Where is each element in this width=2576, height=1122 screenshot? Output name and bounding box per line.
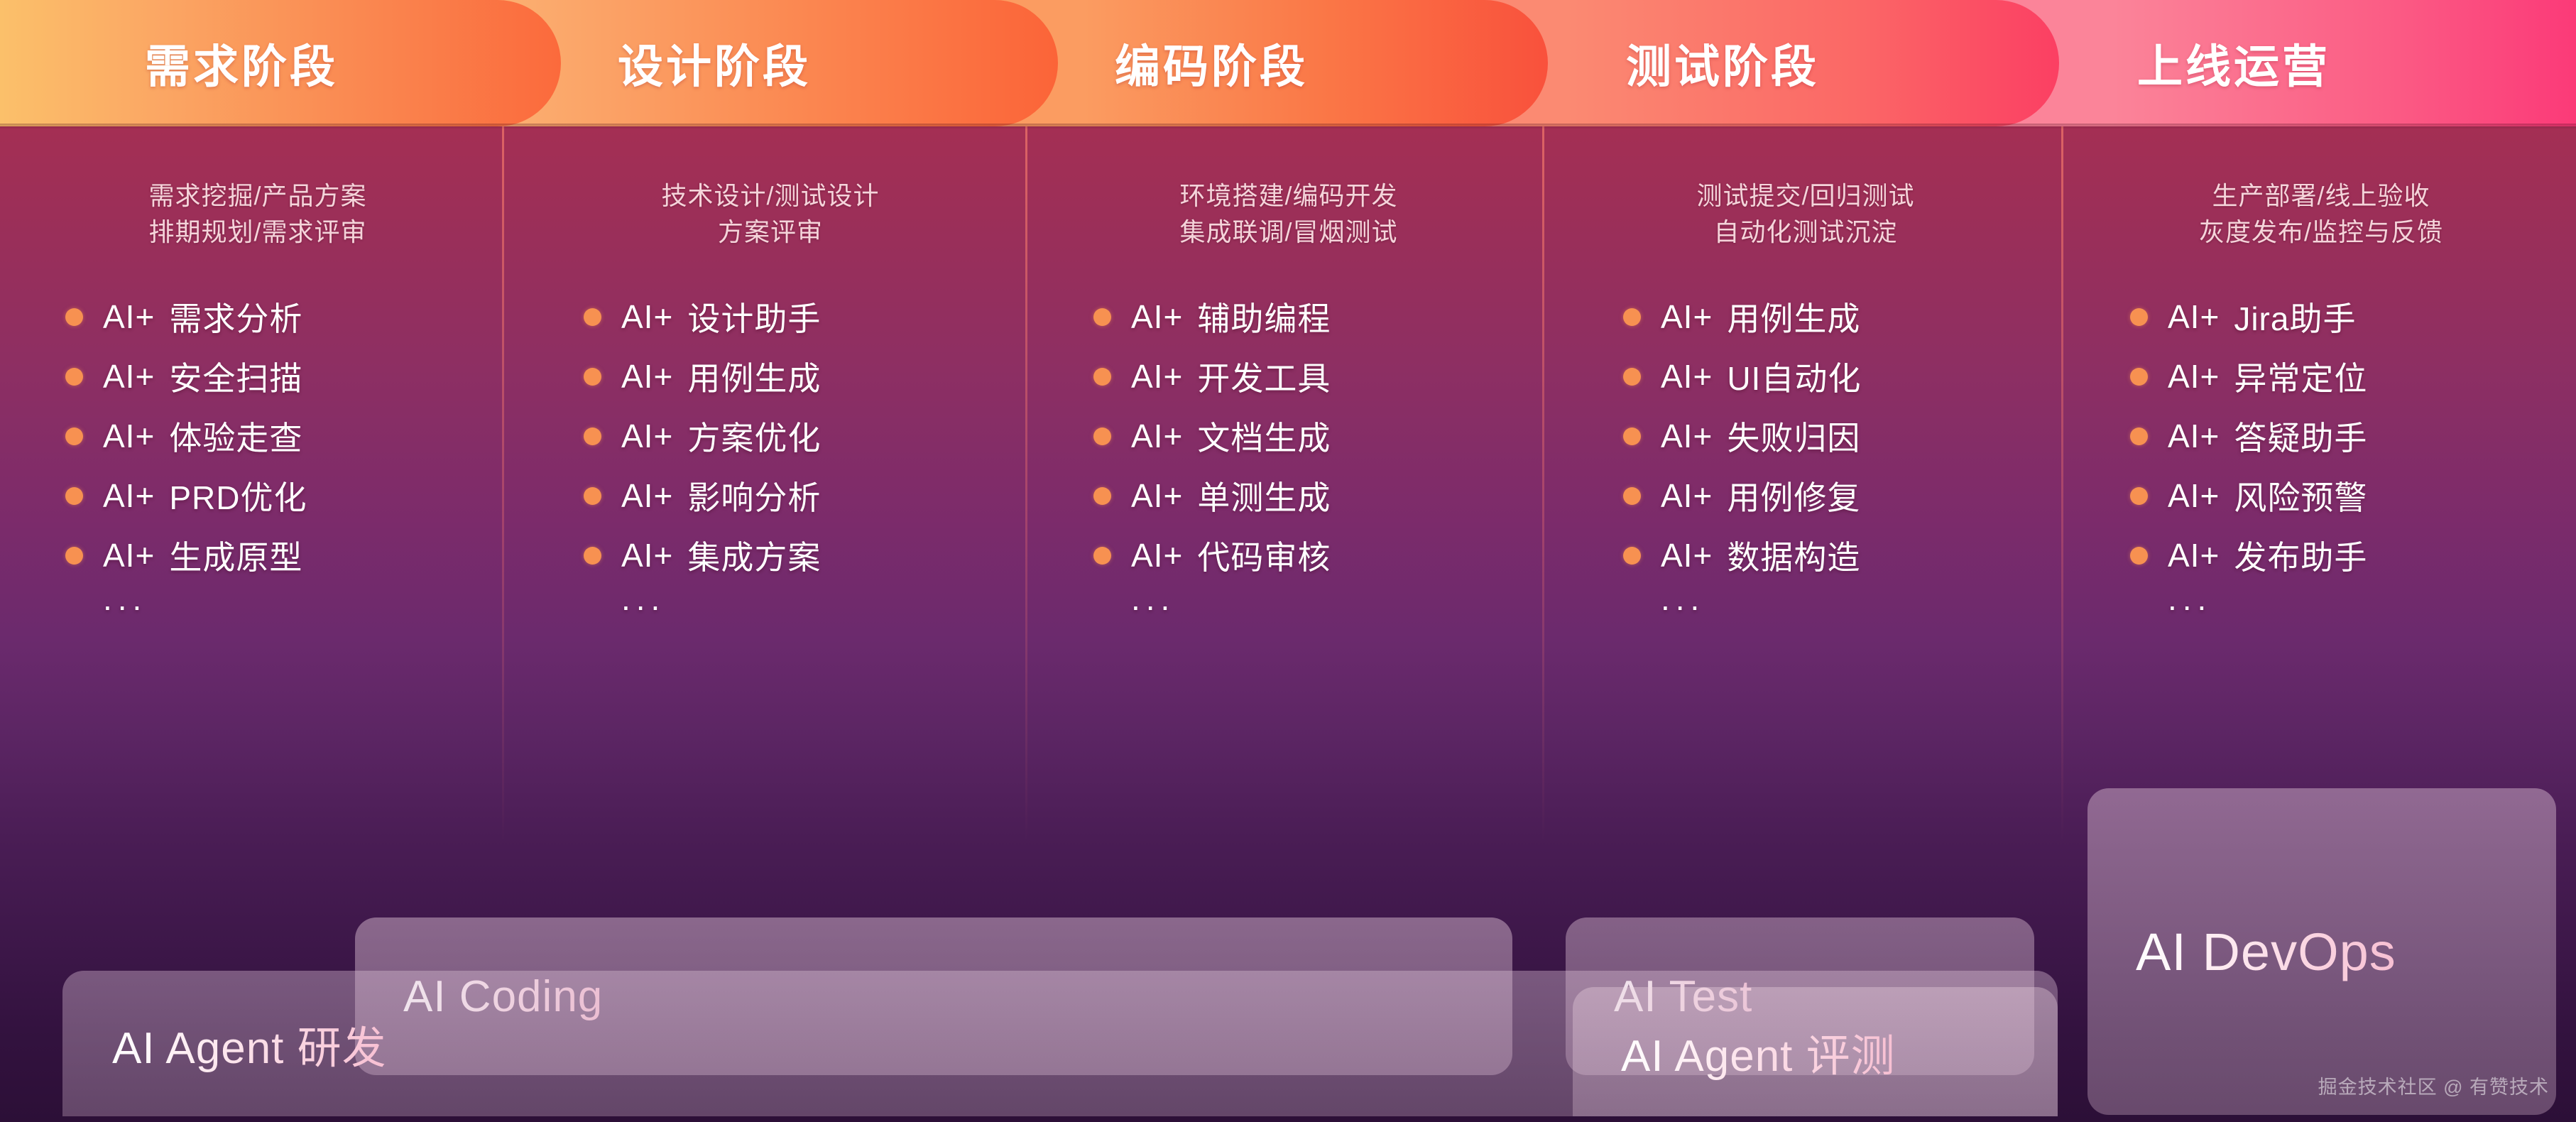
list-item[interactable]: AI+ 发布助手 bbox=[2130, 525, 2576, 585]
bullet-dot-icon bbox=[1623, 308, 1641, 326]
list-item[interactable]: AI+ 方案优化 bbox=[584, 406, 1028, 466]
item-prefix: AI+ bbox=[2168, 417, 2220, 455]
capability-list-5: AI+ Jira助手 AI+ 异常定位 AI+ 答疑助手 AI+ 风险预警 bbox=[2063, 287, 2576, 615]
bullet-dot-icon bbox=[1623, 487, 1641, 505]
column-subtitle-1-line1: 需求挖掘/产品方案 bbox=[0, 178, 515, 214]
list-item[interactable]: AI+ 影响分析 bbox=[584, 466, 1028, 525]
bullet-dot-icon bbox=[2130, 308, 2148, 326]
column-subtitle-3: 环境搭建/编码开发 集成联调/冒烟测试 bbox=[1031, 178, 1546, 250]
item-label: 体验走查 bbox=[169, 413, 302, 459]
item-prefix: AI+ bbox=[1661, 536, 1713, 574]
column-subtitle-4-line2: 自动化测试沉淀 bbox=[1548, 214, 2063, 250]
bullet-dot-icon bbox=[584, 368, 601, 386]
stage-pill-1[interactable]: 需求阶段 bbox=[0, 0, 561, 126]
bullet-dot-icon bbox=[584, 308, 601, 326]
platform-band-ai-agent-dev-label: AI Agent 研发 bbox=[112, 1012, 387, 1076]
item-prefix: AI+ bbox=[1131, 536, 1183, 574]
capability-list-1: AI+ 需求分析 AI+ 安全扫描 AI+ 体验走查 AI+ PRD优化 bbox=[0, 287, 515, 615]
item-prefix: AI+ bbox=[621, 417, 673, 455]
bullet-dot-icon bbox=[1093, 487, 1111, 505]
list-item[interactable]: AI+ 文档生成 bbox=[1093, 406, 1546, 466]
header-shadow bbox=[0, 124, 2576, 129]
more-ellipsis: ... bbox=[1623, 582, 2063, 615]
item-prefix: AI+ bbox=[2168, 298, 2220, 336]
item-label: 用例修复 bbox=[1727, 472, 1860, 519]
item-prefix: AI+ bbox=[103, 357, 155, 396]
item-prefix: AI+ bbox=[103, 536, 155, 574]
column-subtitle-1-line2: 排期规划/需求评审 bbox=[0, 214, 515, 250]
capability-list-3: AI+ 辅助编程 AI+ 开发工具 AI+ 文档生成 AI+ 单测生成 bbox=[1031, 287, 1546, 615]
bullet-dot-icon bbox=[584, 547, 601, 565]
item-label: 代码审核 bbox=[1197, 532, 1331, 579]
item-prefix: AI+ bbox=[1661, 476, 1713, 515]
more-ellipsis: ... bbox=[2130, 582, 2576, 615]
stage-header-bar: 上线运营 测试阶段 编码阶段 设计阶段 需求阶段 bbox=[0, 0, 2576, 126]
column-subtitle-4-line1: 测试提交/回归测试 bbox=[1548, 178, 2063, 214]
list-item[interactable]: AI+ 需求分析 bbox=[65, 287, 515, 347]
list-item[interactable]: AI+ 代码审核 bbox=[1093, 525, 1546, 585]
pipeline-diagram: 上线运营 测试阶段 编码阶段 设计阶段 需求阶段 需求挖掘/产品方案 排期规划/… bbox=[0, 0, 2576, 1122]
bullet-dot-icon bbox=[584, 487, 601, 505]
column-subtitle-2: 技术设计/测试设计 方案评审 bbox=[513, 178, 1028, 250]
item-label: 用例生成 bbox=[687, 353, 821, 400]
bullet-dot-icon bbox=[65, 487, 83, 505]
list-item[interactable]: AI+ 体验走查 bbox=[65, 406, 515, 466]
item-label: 辅助编程 bbox=[1197, 293, 1331, 340]
item-label: 方案优化 bbox=[687, 413, 821, 459]
more-ellipsis: ... bbox=[1093, 582, 1546, 615]
item-label: 影响分析 bbox=[687, 472, 821, 519]
column-subtitle-3-line2: 集成联调/冒烟测试 bbox=[1031, 214, 1546, 250]
item-prefix: AI+ bbox=[1661, 357, 1713, 396]
bullet-dot-icon bbox=[2130, 547, 2148, 565]
item-label: 文档生成 bbox=[1197, 413, 1331, 459]
list-item[interactable]: AI+ 用例修复 bbox=[1623, 466, 2063, 525]
list-item[interactable]: AI+ 生成原型 bbox=[65, 525, 515, 585]
bullet-dot-icon bbox=[65, 368, 83, 386]
bullet-dot-icon bbox=[1093, 368, 1111, 386]
bullet-dot-icon bbox=[1093, 547, 1111, 565]
stage-column-1: 需求挖掘/产品方案 排期规划/需求评审 AI+ 需求分析 AI+ 安全扫描 AI… bbox=[0, 126, 515, 844]
item-label: 用例生成 bbox=[1727, 293, 1860, 340]
item-label: 集成方案 bbox=[687, 532, 821, 579]
item-label: 设计助手 bbox=[687, 293, 821, 340]
column-subtitle-1: 需求挖掘/产品方案 排期规划/需求评审 bbox=[0, 178, 515, 250]
item-label: 生成原型 bbox=[169, 532, 302, 579]
bullet-dot-icon bbox=[584, 427, 601, 445]
bullet-dot-icon bbox=[65, 547, 83, 565]
stage-column-5: 生产部署/线上验收 灰度发布/监控与反馈 AI+ Jira助手 AI+ 异常定位… bbox=[2063, 126, 2576, 844]
item-label: 失败归因 bbox=[1727, 413, 1860, 459]
list-item[interactable]: AI+ Jira助手 bbox=[2130, 287, 2576, 347]
bullet-dot-icon bbox=[1093, 427, 1111, 445]
stage-label-1: 需求阶段 bbox=[0, 0, 561, 126]
column-subtitle-5: 生产部署/线上验收 灰度发布/监控与反馈 bbox=[2063, 178, 2576, 250]
list-item[interactable]: AI+ 安全扫描 bbox=[65, 347, 515, 406]
item-label: 安全扫描 bbox=[169, 353, 302, 400]
more-ellipsis: ... bbox=[584, 582, 1028, 615]
bullet-dot-icon bbox=[1623, 368, 1641, 386]
bullet-dot-icon bbox=[65, 427, 83, 445]
item-label: 答疑助手 bbox=[2234, 413, 2367, 459]
item-prefix: AI+ bbox=[103, 476, 155, 515]
capability-list-2: AI+ 设计助手 AI+ 用例生成 AI+ 方案优化 AI+ 影响分析 bbox=[513, 287, 1028, 615]
column-subtitle-4: 测试提交/回归测试 自动化测试沉淀 bbox=[1548, 178, 2063, 250]
item-label: 风险预警 bbox=[2234, 472, 2367, 519]
item-label: PRD优化 bbox=[169, 472, 307, 519]
list-item[interactable]: AI+ 异常定位 bbox=[2130, 347, 2576, 406]
column-subtitle-2-line2: 方案评审 bbox=[513, 214, 1028, 250]
capability-list-4: AI+ 用例生成 AI+ UI自动化 AI+ 失败归因 AI+ 用例修复 bbox=[1548, 287, 2063, 615]
list-item[interactable]: AI+ 用例生成 bbox=[1623, 287, 2063, 347]
item-prefix: AI+ bbox=[1131, 476, 1183, 515]
bullet-dot-icon bbox=[65, 308, 83, 326]
item-prefix: AI+ bbox=[621, 476, 673, 515]
stage-column-2: 技术设计/测试设计 方案评审 AI+ 设计助手 AI+ 用例生成 AI+ 方案优 bbox=[513, 126, 1028, 844]
item-prefix: AI+ bbox=[103, 417, 155, 455]
bullet-dot-icon bbox=[2130, 368, 2148, 386]
watermark: 掘金技术社区 @ 有赞技术 bbox=[2318, 1072, 2549, 1099]
list-item[interactable]: AI+ 开发工具 bbox=[1093, 347, 1546, 406]
item-prefix: AI+ bbox=[2168, 476, 2220, 515]
item-prefix: AI+ bbox=[2168, 357, 2220, 396]
list-item[interactable]: AI+ 设计助手 bbox=[584, 287, 1028, 347]
platform-band-ai-devops[interactable]: AI DevOps bbox=[2087, 788, 2556, 1115]
stage-column-3: 环境搭建/编码开发 集成联调/冒烟测试 AI+ 辅助编程 AI+ 开发工具 AI… bbox=[1031, 126, 1546, 844]
platform-band-ai-agent-eval[interactable]: AI Agent 评测 bbox=[1573, 987, 2058, 1116]
item-label: 数据构造 bbox=[1727, 532, 1860, 579]
list-item[interactable]: AI+ 单测生成 bbox=[1093, 466, 1546, 525]
stage-column-4: 测试提交/回归测试 自动化测试沉淀 AI+ 用例生成 AI+ UI自动化 AI+ bbox=[1548, 126, 2063, 844]
item-label: 开发工具 bbox=[1197, 353, 1331, 400]
item-label: 需求分析 bbox=[169, 293, 302, 340]
item-prefix: AI+ bbox=[1131, 417, 1183, 455]
item-prefix: AI+ bbox=[1131, 357, 1183, 396]
list-item[interactable]: AI+ 集成方案 bbox=[584, 525, 1028, 585]
bullet-dot-icon bbox=[1623, 427, 1641, 445]
item-prefix: AI+ bbox=[103, 298, 155, 336]
list-item[interactable]: AI+ 风险预警 bbox=[2130, 466, 2576, 525]
item-label: UI自动化 bbox=[1727, 353, 1861, 400]
column-subtitle-2-line1: 技术设计/测试设计 bbox=[513, 178, 1028, 214]
list-item[interactable]: AI+ PRD优化 bbox=[65, 466, 515, 525]
platform-band-ai-agent-eval-label: AI Agent 评测 bbox=[1621, 1020, 1896, 1084]
bullet-dot-icon bbox=[1093, 308, 1111, 326]
list-item[interactable]: AI+ 辅助编程 bbox=[1093, 287, 1546, 347]
column-subtitle-5-line1: 生产部署/线上验收 bbox=[2063, 178, 2576, 214]
bullet-dot-icon bbox=[2130, 427, 2148, 445]
item-prefix: AI+ bbox=[621, 357, 673, 396]
item-prefix: AI+ bbox=[1131, 298, 1183, 336]
item-prefix: AI+ bbox=[2168, 536, 2220, 574]
item-label: 单测生成 bbox=[1197, 472, 1331, 519]
item-prefix: AI+ bbox=[1661, 298, 1713, 336]
list-item[interactable]: AI+ 失败归因 bbox=[1623, 406, 2063, 466]
item-prefix: AI+ bbox=[621, 536, 673, 574]
list-item[interactable]: AI+ 答疑助手 bbox=[2130, 406, 2576, 466]
list-item[interactable]: AI+ UI自动化 bbox=[1623, 347, 2063, 406]
list-item[interactable]: AI+ 数据构造 bbox=[1623, 525, 2063, 585]
bullet-dot-icon bbox=[2130, 487, 2148, 505]
item-prefix: AI+ bbox=[621, 298, 673, 336]
platform-band-ai-devops-label: AI DevOps bbox=[2136, 922, 2396, 982]
item-label: Jira助手 bbox=[2234, 293, 2356, 340]
column-subtitle-3-line1: 环境搭建/编码开发 bbox=[1031, 178, 1546, 214]
more-ellipsis: ... bbox=[65, 582, 515, 615]
item-label: 发布助手 bbox=[2234, 532, 2367, 579]
column-subtitle-5-line2: 灰度发布/监控与反馈 bbox=[2063, 214, 2576, 250]
item-label: 异常定位 bbox=[2234, 353, 2367, 400]
item-prefix: AI+ bbox=[1661, 417, 1713, 455]
bullet-dot-icon bbox=[1623, 547, 1641, 565]
list-item[interactable]: AI+ 用例生成 bbox=[584, 347, 1028, 406]
